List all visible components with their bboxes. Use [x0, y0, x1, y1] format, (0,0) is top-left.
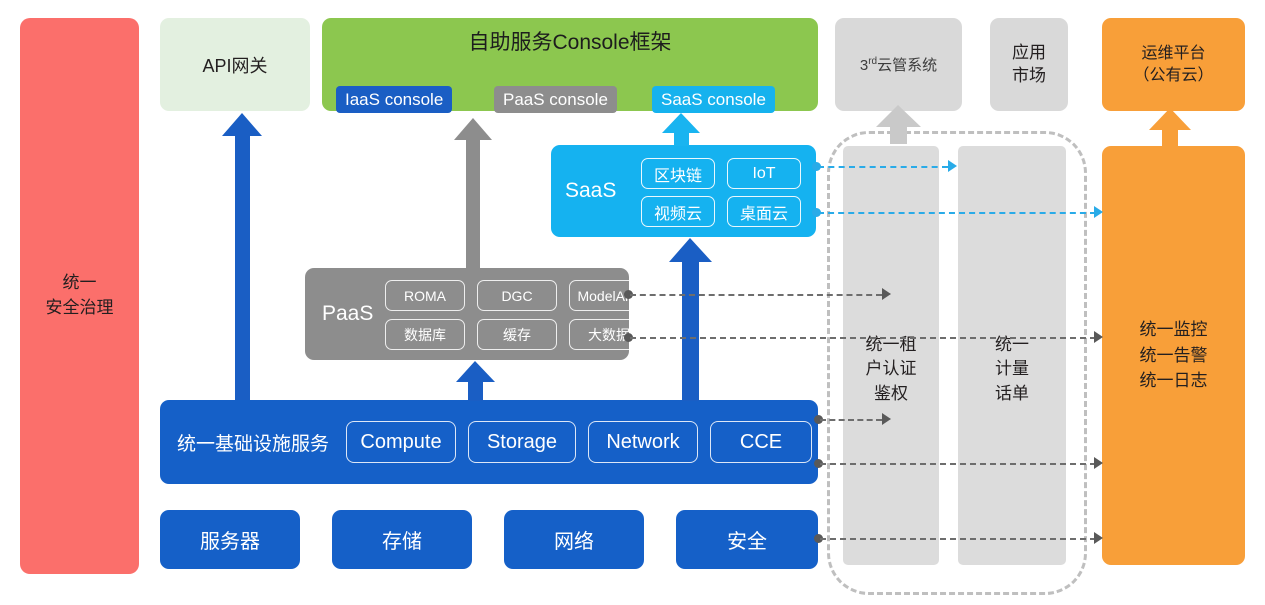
paas-layer-label: PaaS: [322, 268, 373, 360]
arrow-paas-to-console: [454, 118, 492, 268]
app-market-line2: 市场: [1012, 65, 1046, 88]
unified-infrastructure-panel: 统一基础设施服务 Compute Storage Network CCE: [160, 400, 818, 484]
infra-chip-network: Network: [588, 421, 698, 463]
console-framework-title: 自助服务Console框架: [322, 18, 818, 64]
dashed-saas-to-metering: [818, 166, 948, 168]
unified-metering-billing-column: 统一 计量 话单: [958, 146, 1066, 565]
arrowhead-paas-to-auth: [882, 288, 891, 300]
paas-chip-roma: ROMA: [385, 280, 465, 311]
dashed-base-to-ops: [820, 538, 1096, 540]
ops-monitoring-panel: 统一监控 统一告警 统一日志: [1102, 146, 1245, 565]
paas-chip-bigdata: 大数据: [569, 319, 649, 350]
base-box-security: 安全: [676, 510, 818, 569]
arrow-ops-panel-to-ops-top: [1149, 108, 1191, 146]
iaas-console-chip: IaaS console: [336, 86, 452, 113]
third-party-prefix: 3: [860, 57, 868, 74]
security-panel-line1: 统一: [46, 271, 114, 296]
architecture-diagram: 统一 安全治理 API网关 自助服务Console框架 IaaS console…: [0, 0, 1265, 605]
third-party-superscript: rd: [868, 56, 877, 67]
saas-layer-panel: SaaS 区块链 IoT 视频云 桌面云: [551, 145, 816, 237]
arrowhead-saas-to-metering: [948, 160, 957, 172]
third-party-label: 3rd云管系统: [860, 54, 937, 75]
app-market-line1: 应用: [1012, 42, 1046, 65]
dashed-paas-to-auth: [630, 294, 882, 296]
api-gateway-label: API网关: [202, 52, 267, 78]
arrowhead-infra-to-ops: [1094, 457, 1103, 469]
arrow-saas-to-console: [662, 113, 700, 146]
base-box-server: 服务器: [160, 510, 300, 569]
security-governance-panel: 统一 安全治理: [20, 18, 139, 574]
saas-chip-desktop-cloud: 桌面云: [727, 196, 801, 227]
arrowhead-paas-to-ops: [1094, 331, 1103, 343]
infrastructure-label: 统一基础设施服务: [177, 400, 329, 484]
column-0-line2: 户认证: [866, 357, 917, 381]
unified-tenant-auth-column: 统一租 户认证 鉴权: [843, 146, 939, 565]
saas-layer-label: SaaS: [565, 145, 616, 237]
saas-chip-video-cloud: 视频云: [641, 196, 715, 227]
dashed-paas-to-ops: [630, 337, 1096, 339]
infra-chip-compute: Compute: [346, 421, 456, 463]
paas-chip-cache: 缓存: [477, 319, 557, 350]
ops-panel-line3: 统一日志: [1140, 368, 1208, 394]
arrow-infra-to-paas: [456, 361, 495, 401]
dashed-saas-to-ops: [818, 212, 1096, 214]
base-box-network: 网络: [504, 510, 644, 569]
security-panel-line2: 安全治理: [46, 296, 114, 321]
ops-top-line1: 运维平台: [1133, 43, 1213, 65]
ops-panel-line1: 统一监控: [1140, 317, 1208, 343]
paas-chip-dgc: DGC: [477, 280, 557, 311]
arrowhead-base-to-ops: [1094, 532, 1103, 544]
saas-chip-iot: IoT: [727, 158, 801, 189]
infra-chip-storage: Storage: [468, 421, 576, 463]
paas-chip-database: 数据库: [385, 319, 465, 350]
dashed-infra-to-auth: [820, 419, 882, 421]
infra-chip-cce: CCE: [710, 421, 812, 463]
third-party-cloud-mgmt-box: 3rd云管系统: [835, 18, 962, 111]
arrowhead-saas-to-ops: [1094, 206, 1103, 218]
column-0-line3: 鉴权: [866, 382, 917, 406]
column-1-line2: 计量: [995, 357, 1029, 381]
dashed-infra-to-ops: [820, 463, 1096, 465]
base-box-storage: 存储: [332, 510, 472, 569]
arrow-infra-to-saas: [669, 238, 712, 401]
arrowhead-infra-to-auth: [882, 413, 891, 425]
paas-console-chip: PaaS console: [494, 86, 617, 113]
app-market-box: 应用 市场: [990, 18, 1068, 111]
column-1-line3: 话单: [995, 382, 1029, 406]
api-gateway-box: API网关: [160, 18, 310, 111]
ops-panel-line2: 统一告警: [1140, 343, 1208, 369]
paas-layer-panel: PaaS ROMA DGC ModelArts 数据库 缓存 大数据: [305, 268, 629, 360]
ops-platform-public-cloud-box: 运维平台 （公有云）: [1102, 18, 1245, 111]
third-party-suffix: 云管系统: [877, 57, 937, 74]
ops-top-line2: （公有云）: [1133, 65, 1213, 87]
saas-console-chip: SaaS console: [652, 86, 775, 113]
console-framework-panel: 自助服务Console框架 IaaS console PaaS console …: [322, 18, 818, 111]
arrow-infra-to-api-gateway: [222, 113, 262, 400]
saas-chip-blockchain: 区块链: [641, 158, 715, 189]
